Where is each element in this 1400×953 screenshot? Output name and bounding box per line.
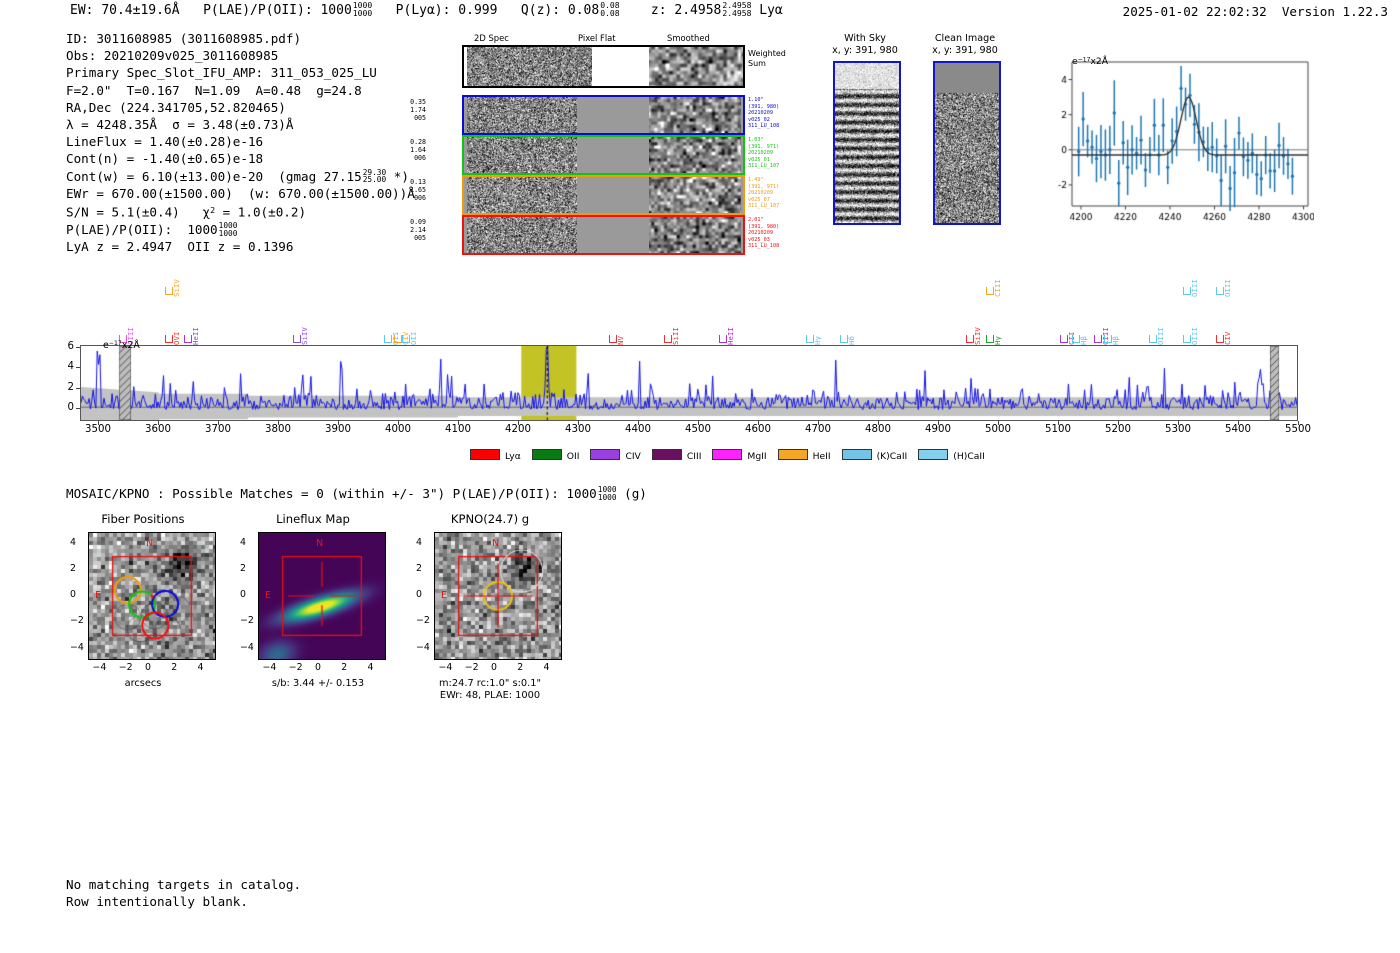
emission-line-label: CIV: [1223, 332, 1232, 345]
spectrum-xtick: 4500: [678, 424, 718, 435]
spectrum-flux-unit-annotation: e−17x2Å: [103, 340, 140, 351]
ew-label: EW:: [70, 3, 93, 18]
spectrum-xtick-mark: [758, 421, 759, 425]
spectrum-xtick: 4700: [798, 424, 838, 435]
plae-range: 10001000: [353, 2, 372, 18]
legend-swatch: [532, 449, 562, 460]
ew-value: 70.4±19.6Å: [101, 3, 179, 18]
emission-line-label: OVI: [172, 332, 181, 345]
legend-item: OII: [532, 449, 580, 462]
spectrum-xtick-mark: [278, 421, 279, 425]
spectrum-xtick-mark: [1178, 421, 1179, 425]
panel-xtick: 4: [544, 662, 550, 673]
emission-line-bracket: [1216, 335, 1224, 343]
compass-north-label: N: [146, 538, 153, 549]
spectrum-xtick: 5500: [1278, 424, 1318, 435]
panel-xtick: 0: [491, 662, 497, 673]
plae-value: 1000: [320, 3, 351, 18]
spectrum-xtick-mark: [818, 421, 819, 425]
info-fit-params: F=2.0" T=0.167 N=1.09 A=0.48 g=24.8: [66, 82, 415, 99]
full-spectrum-plot: [80, 345, 1298, 421]
emission-line-label: Hβ: [1079, 336, 1088, 345]
spectrum-xtick: 5000: [978, 424, 1018, 435]
spectrum-xtick: 3800: [258, 424, 298, 435]
fiber-positions-image: [88, 532, 216, 660]
footer-line-2: Row intentionally blank.: [66, 893, 301, 910]
legend-label: (H)CaII: [953, 451, 985, 462]
legend-swatch: [842, 449, 872, 460]
clean-image-image: [933, 61, 1001, 225]
panel-ytick: 0: [70, 589, 76, 600]
emission-line-label: OIII: [1156, 327, 1165, 345]
footer-line-1: No matching targets in catalog.: [66, 876, 301, 893]
fiber-row-3: [462, 175, 745, 215]
emission-line-label: OIII: [1190, 327, 1199, 345]
panel-ytick: −2: [416, 615, 430, 626]
emission-line-label: Hγ: [993, 336, 1002, 345]
emission-line-bracket: [394, 335, 402, 343]
mosaic-plae-range: 10001000: [598, 486, 617, 501]
z-value: 2.4958: [674, 3, 721, 18]
emission-line-label: HeII: [191, 327, 200, 345]
emission-line-label: CII: [1067, 332, 1076, 345]
panel-xtick: −2: [289, 662, 303, 673]
legend-swatch: [652, 449, 682, 460]
qz-value: 0.08: [568, 3, 599, 18]
qz-label: Q(z):: [521, 3, 560, 18]
emission-line-bracket: [1183, 335, 1191, 343]
emission-line-label: OII: [391, 332, 400, 345]
kpno-image: [434, 532, 562, 660]
line-fit-canvas: [1038, 52, 1314, 230]
legend-item: (K)CaII: [842, 449, 908, 462]
emission-line-bracket: [986, 335, 994, 343]
spectrum-ytick-mark: [76, 408, 80, 409]
spectrum-ytick: 4: [58, 361, 74, 372]
info-radec: RA,Dec (224.341705,52.820465): [66, 99, 415, 116]
info-cont-n: Cont(n) = -1.40(±0.65)e-18: [66, 150, 415, 167]
spectrum-xtick-mark: [1298, 421, 1299, 425]
kpno-title: KPNO(24.7) g: [400, 512, 580, 526]
emission-line-bracket: [119, 335, 127, 343]
spectrum-xtick-mark: [218, 421, 219, 425]
spectrum-xtick: 5400: [1218, 424, 1258, 435]
legend-label: MgII: [747, 451, 766, 462]
panel-ytick: 2: [416, 563, 422, 574]
emission-line-label: Hγ: [813, 336, 822, 345]
spectrum-xtick: 3700: [198, 424, 238, 435]
panel-ytick: −2: [70, 615, 84, 626]
emission-line-bracket: [840, 335, 848, 343]
panel-ytick: −4: [240, 642, 254, 653]
fiber-row-metadata: 1.49"(391, 971)20210209v025_07311_LU_107: [748, 177, 779, 210]
header-summary-line: EW: 70.4±19.6Å P(LAE)/P(OII): 1000100010…: [70, 2, 783, 18]
fiber-row-smoothed-image: [649, 137, 741, 173]
legend-label: CIII: [687, 451, 702, 462]
legend-item: MgII: [712, 449, 766, 462]
emission-line-label: OII: [409, 332, 418, 345]
spectrum-xtick-mark: [398, 421, 399, 425]
emission-line-label: CIII: [1101, 327, 1110, 345]
weighted-sum-label: Weighted Sum: [748, 49, 786, 69]
spectrum-xtick-mark: [1058, 421, 1059, 425]
emission-line-label: OIII: [1190, 279, 1199, 297]
fiber-row-left-stats: 0.281.64006: [396, 138, 426, 162]
info-obs: Obs: 20210209v025_3011608985: [66, 47, 415, 64]
panel-ytick: −4: [416, 642, 430, 653]
version-label: Version 1.22.3: [1282, 4, 1388, 19]
panel-xtick: −2: [465, 662, 479, 673]
spectrum-xtick-mark: [158, 421, 159, 425]
z-line-name: Lyα: [759, 3, 782, 18]
legend-item: HeII: [778, 449, 831, 462]
fiber-row-metadata: 2.01"(391, 980)20210209v025_03311_LU_108: [748, 217, 779, 250]
panel-ytick: −2: [240, 615, 254, 626]
weighted-sum-smoothed-image: [649, 47, 743, 86]
spectrum-xtick: 3900: [318, 424, 358, 435]
compass-north-label: N: [492, 538, 499, 549]
spectrum-xtick: 4300: [558, 424, 598, 435]
panel-xtick: 4: [368, 662, 374, 673]
timestamp: 2025-01-02 22:02:32: [1123, 4, 1267, 19]
plae-label: P(LAE)/P(OII):: [203, 3, 313, 18]
legend-label: HeII: [813, 451, 831, 462]
emission-line-label: OIII: [1223, 279, 1232, 297]
clean-image-subtitle: x, y: 391, 980: [925, 45, 1005, 57]
plya-label: P(Lyα):: [396, 3, 451, 18]
spectrum-ytick-mark: [76, 367, 80, 368]
lineflux-map-title: Lineflux Map: [228, 512, 398, 526]
panel-xtick: −2: [119, 662, 133, 673]
emission-line-bracket: [609, 335, 617, 343]
spectrum-xtick-mark: [1238, 421, 1239, 425]
mosaic-filter: (g): [624, 486, 647, 501]
spectrum-ytick: 2: [58, 382, 74, 393]
fiber-row-2: [462, 135, 745, 175]
emission-line-bracket: [165, 287, 173, 295]
emission-line-bracket: [966, 335, 974, 343]
panel-ytick: 2: [70, 563, 76, 574]
panel-xtick: 2: [171, 662, 177, 673]
emission-line-bracket: [402, 335, 410, 343]
spectrum-xtick-mark: [638, 421, 639, 425]
emission-line-label: Hδ: [847, 336, 856, 345]
line-fit-zoom-plot: e−17x2Å: [1038, 52, 1314, 230]
spectrum-xtick-mark: [338, 421, 339, 425]
spectrum-xtick: 5100: [1038, 424, 1078, 435]
fiber-row-2dspec-image: [467, 217, 577, 253]
info-ewr: EWr = 670.00(±1500.00) (w: 670.00(±1500.…: [66, 185, 415, 202]
kpno-caption-line1: m:24.7 rc:1.0" s:0.1": [400, 678, 580, 690]
compass-east-label: E: [265, 590, 271, 601]
emission-line-label: SiII: [671, 327, 680, 345]
spectrum-xtick-mark: [98, 421, 99, 425]
fiber-row-left-stats: 0.092.14005: [396, 218, 426, 242]
emission-line-label: NV: [616, 336, 625, 345]
panel-xtick: −4: [263, 662, 277, 673]
spectrum-xtick-mark: [878, 421, 879, 425]
fiber-row-1: [462, 95, 745, 135]
col-title-smoothed: Smoothed: [667, 33, 710, 43]
legend-swatch: [470, 449, 500, 460]
spectrum-xtick-mark: [578, 421, 579, 425]
emission-line-bracket: [664, 335, 672, 343]
spectrum-xtick: 4600: [738, 424, 778, 435]
info-cont-w: Cont(w) = 6.10(±13.00)e-20 (gmag 27.1529…: [66, 168, 415, 185]
info-plae-range: 10001000: [219, 222, 238, 237]
panel-ytick: 4: [70, 537, 76, 548]
emission-line-bracket: [1094, 335, 1102, 343]
col-title-pixelflat: Pixel Flat: [578, 33, 616, 43]
legend-swatch: [590, 449, 620, 460]
spectrum-xtick-mark: [518, 421, 519, 425]
lineflux-map-image: [258, 532, 386, 660]
emission-line-label: HeII: [726, 327, 735, 345]
emission-line-label: Hβ: [1111, 336, 1120, 345]
full-spectrum-canvas: [81, 346, 1297, 420]
fiber-positions-panel: Fiber Positions arcsecs: [58, 512, 228, 712]
legend-item: Lyα: [470, 449, 521, 462]
spectrum-xtick: 5200: [1098, 424, 1138, 435]
spectrum-ytick: 0: [58, 402, 74, 413]
lineflux-map-caption: s/b: 3.44 +/- 0.153: [228, 678, 408, 690]
compass-east-label: E: [441, 590, 447, 601]
panel-xtick: 0: [145, 662, 151, 673]
clean-image-title: Clean Image: [925, 33, 1005, 45]
panel-xtick: 2: [341, 662, 347, 673]
emission-line-bracket: [184, 335, 192, 343]
fiber-row-left-stats: 0.351.74005: [396, 98, 426, 122]
fiber-row-4: [462, 215, 745, 255]
info-primary-spec: Primary Spec_Slot_IFU_AMP: 311_053_025_L…: [66, 64, 415, 81]
compass-north-label: N: [316, 538, 323, 549]
with-sky-image: [833, 61, 901, 225]
with-sky-title: With Sky: [828, 33, 902, 45]
emission-line-bracket: [1104, 335, 1112, 343]
fiber-row-2dspec-image: [467, 137, 577, 173]
emission-line-bracket: [1183, 287, 1191, 295]
legend-swatch: [712, 449, 742, 460]
legend-label: CIV: [625, 451, 640, 462]
emission-line-bracket: [1216, 287, 1224, 295]
spectrum-ytick-mark: [76, 388, 80, 389]
info-redshifts: LyA z = 2.4947 OII z = 0.1396: [66, 238, 415, 255]
emission-line-label: SiIV: [300, 327, 309, 345]
spectrum-xtick: 5300: [1158, 424, 1198, 435]
compass-east-label: E: [95, 590, 101, 601]
legend-item: CIII: [652, 449, 702, 462]
spectrum-xtick: 4000: [378, 424, 418, 435]
fiber-row-2dspec-image: [467, 177, 577, 213]
panel-ytick: 2: [240, 563, 246, 574]
with-sky-subtitle: x, y: 391, 980: [828, 45, 902, 57]
panel-xtick: 2: [517, 662, 523, 673]
legend-label: Lyα: [505, 451, 521, 462]
fiber-row-metadata: 1.03"(391, 971)20210209v025_01311_LU_107: [748, 137, 779, 170]
fiber-row-smoothed-image: [649, 97, 741, 133]
legend-item: (H)CaII: [918, 449, 985, 462]
panel-ytick: 4: [240, 537, 246, 548]
header-timestamp-version: 2025-01-02 22:02:32 Version 1.22.3: [1123, 4, 1388, 19]
col-title-2dspec: 2D Spec: [474, 33, 509, 43]
emission-line-bracket: [1060, 335, 1068, 343]
panel-xtick: 0: [315, 662, 321, 673]
info-lambda: λ = 4248.35Å σ = 3.48(±0.73)Å: [66, 116, 415, 133]
gmag-range: 29.3025.00: [363, 169, 386, 184]
spectrum-xtick: 4200: [498, 424, 538, 435]
mosaic-summary-line: MOSAIC/KPNO : Possible Matches = 0 (with…: [66, 486, 647, 501]
weighted-sum-row: [462, 45, 745, 88]
panel-xtick: −4: [439, 662, 453, 673]
legend-swatch: [778, 449, 808, 460]
z-label: z:: [651, 3, 667, 18]
spectrum-xtick: 4800: [858, 424, 898, 435]
emission-line-bracket: [293, 335, 301, 343]
panel-ytick: 4: [416, 537, 422, 548]
panel-ytick: 0: [240, 589, 246, 600]
plya-value: 0.999: [458, 3, 497, 18]
legend-item: CIV: [590, 449, 640, 462]
fiber-positions-xlabel: arcsecs: [58, 678, 228, 690]
emission-line-bracket: [384, 335, 392, 343]
panel-xtick: −4: [93, 662, 107, 673]
legend-label: OII: [567, 451, 580, 462]
spectrum-xtick-mark: [1118, 421, 1119, 425]
emission-line-label: CIII: [126, 327, 135, 345]
spectrum-xtick-mark: [938, 421, 939, 425]
spectrum-xtick-mark: [998, 421, 999, 425]
info-sn-chi2: S/N = 5.1(±0.4) χ2 = 1.0(±0.2): [66, 202, 415, 221]
footer-note: No matching targets in catalog. Row inte…: [66, 876, 301, 910]
spectrum-xtick-mark: [458, 421, 459, 425]
panel-ytick: 0: [416, 589, 422, 600]
emission-line-label: CIV: [401, 332, 410, 345]
two-d-spec-section: 2D Spec Pixel Flat Smoothed Weighted Sum…: [430, 33, 760, 253]
panel-ytick: −4: [70, 642, 84, 653]
spectrum-xtick: 3600: [138, 424, 178, 435]
emission-line-label: SiIV: [172, 279, 181, 297]
spectrum-xtick: 3500: [78, 424, 118, 435]
fiber-row-smoothed-image: [649, 177, 741, 213]
fiber-positions-title: Fiber Positions: [58, 512, 228, 526]
legend-label: (K)CaII: [877, 451, 908, 462]
fiber-row-2dspec-image: [467, 97, 577, 133]
fiber-row-metadata: 1.10"(391, 980)20210209v025_02311_LU_108: [748, 97, 779, 130]
spectrum-xtick-mark: [698, 421, 699, 425]
mosaic-text-pre: MOSAIC/KPNO : Possible Matches = 0 (with…: [66, 486, 597, 501]
spectrum-ytick: 6: [58, 341, 74, 352]
emission-line-label: SiIV: [973, 327, 982, 345]
emission-line-bracket: [986, 287, 994, 295]
emission-line-legend: LyαOIICIVCIIIMgIIHeII(K)CaII(H)CaII: [470, 449, 996, 462]
spectrum-ytick-mark: [76, 347, 80, 348]
info-id: ID: 3011608985 (3011608985.pdf): [66, 30, 415, 47]
legend-swatch: [918, 449, 948, 460]
spectrum-xtick: 4100: [438, 424, 478, 435]
spectrum-xtick: 4400: [618, 424, 658, 435]
fiber-row-smoothed-image: [649, 217, 741, 253]
weighted-sum-2dspec-image: [467, 47, 592, 86]
emission-line-bracket: [165, 335, 173, 343]
emission-line-bracket: [719, 335, 727, 343]
z-range: 2.49582.4958: [722, 2, 751, 18]
fit-flux-unit-annotation: e−17x2Å: [1072, 56, 1108, 67]
info-plae: P(LAE)/P(OII): 100010001000: [66, 221, 415, 238]
kpno-caption-line2: EWr: 48, PLAE: 1000: [400, 690, 580, 702]
qz-range: 0.080.08: [600, 2, 619, 18]
spectrum-xtick: 4900: [918, 424, 958, 435]
emission-line-bracket: [1072, 335, 1080, 343]
detection-info-block: ID: 3011608985 (3011608985.pdf) Obs: 202…: [66, 30, 415, 255]
emission-line-label: CIII: [993, 279, 1002, 297]
emission-line-bracket: [1149, 335, 1157, 343]
panel-xtick: 4: [198, 662, 204, 673]
fiber-row-left-stats: 0.131.65006: [396, 178, 426, 202]
info-lineflux: LineFlux = 1.40(±0.28)e-16: [66, 133, 415, 150]
emission-line-bracket: [806, 335, 814, 343]
